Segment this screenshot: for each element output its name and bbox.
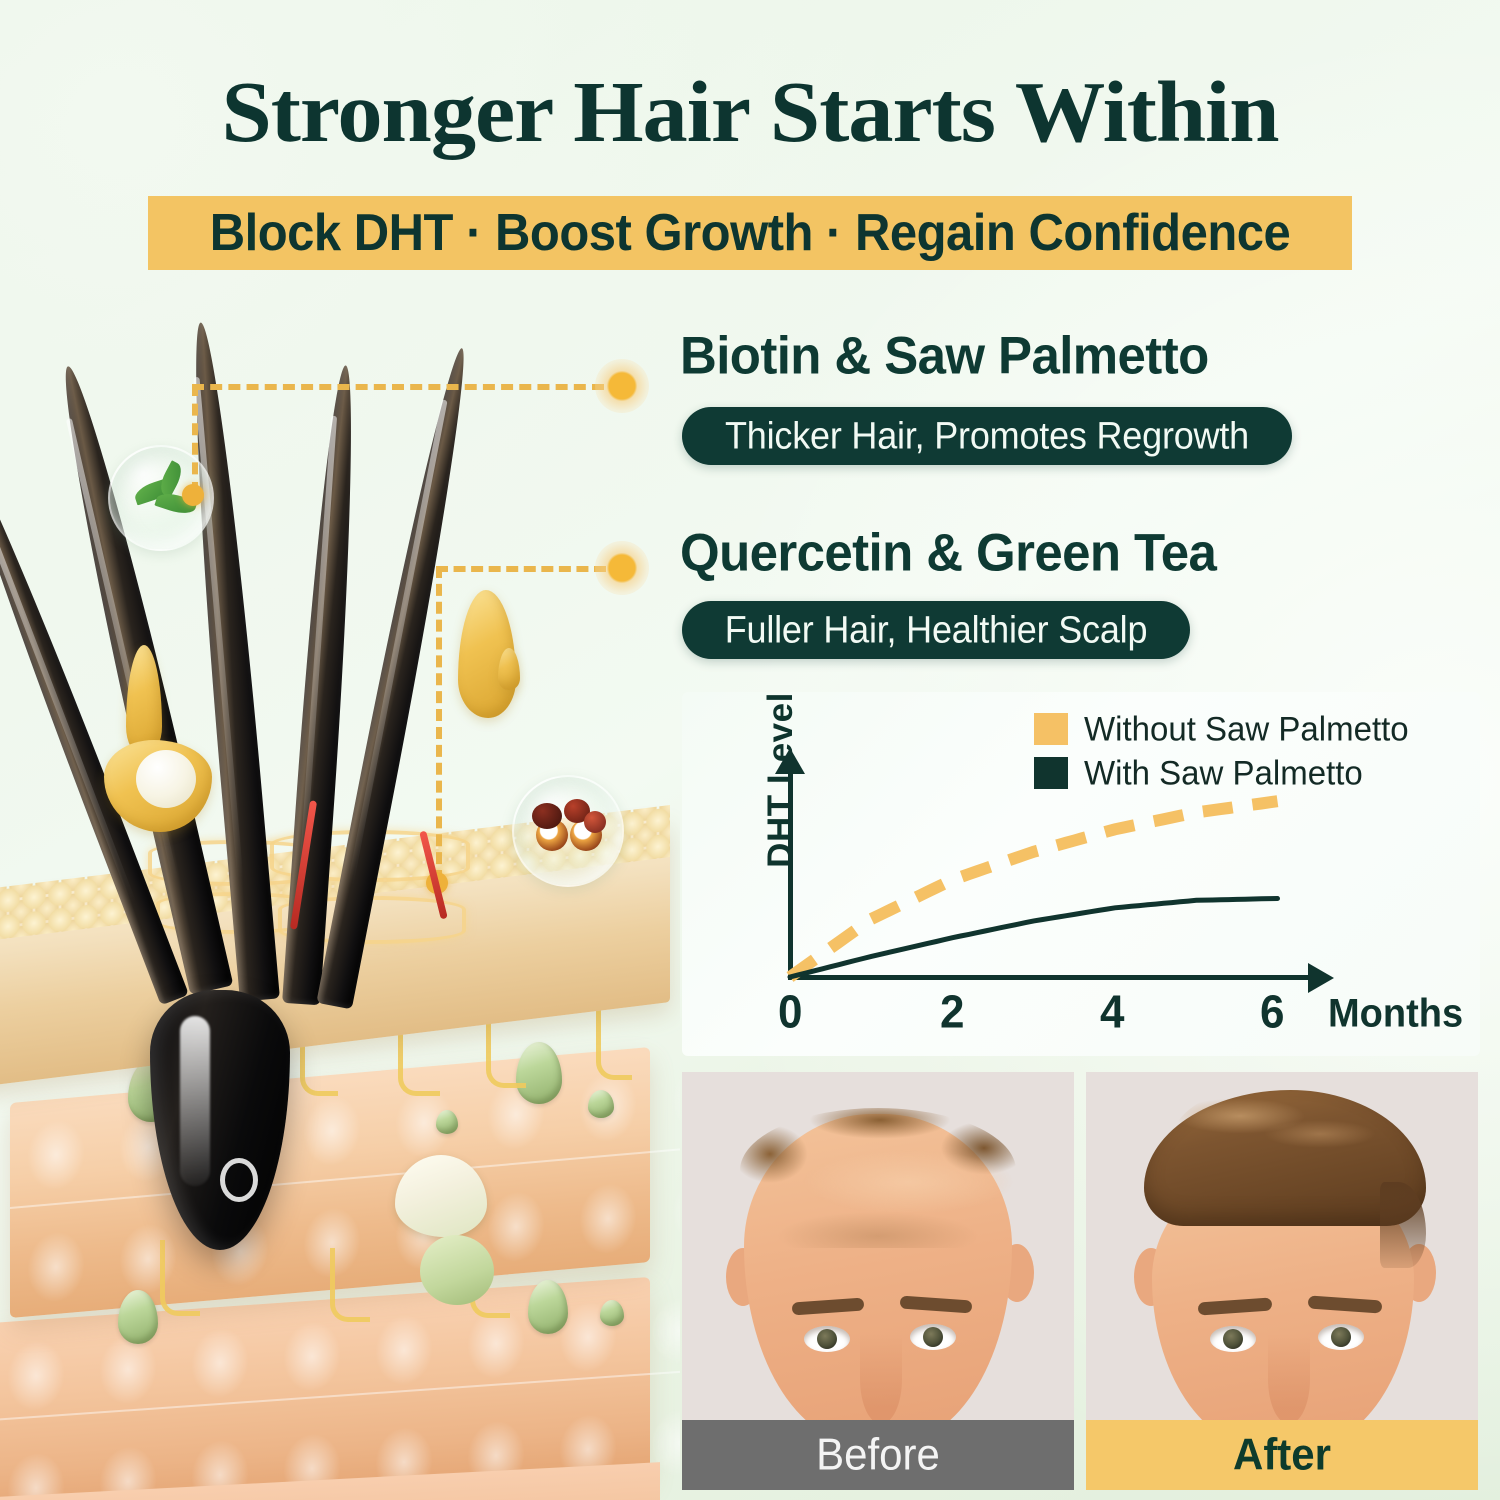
after-label-bar: After: [1086, 1420, 1478, 1490]
x-tick-0: 0: [778, 987, 802, 1040]
x-tick-6: 6: [1260, 987, 1284, 1040]
capillary-icon: [330, 1248, 370, 1322]
before-label-text: Before: [682, 1418, 1074, 1490]
after-label-text: After: [1086, 1418, 1478, 1490]
eye-icon: [1210, 1326, 1256, 1352]
before-label-bar: Before: [682, 1420, 1074, 1490]
eye-icon: [1318, 1324, 1364, 1350]
capillary-icon: [596, 1000, 632, 1080]
chart-x-axis-label: Months: [1328, 992, 1463, 1037]
series-line-without-saw-palmetto: [790, 801, 1278, 977]
after-photo: [1086, 1072, 1478, 1420]
pearl-highlight-icon: [136, 750, 196, 808]
oil-droplet-small-icon: [498, 648, 520, 690]
series-line-with-saw-palmetto: [790, 899, 1278, 978]
feature-title-biotin: Biotin & Saw Palmetto: [680, 325, 1209, 386]
feature-pill-biotin: Thicker Hair, Promotes Regrowth: [682, 407, 1292, 465]
dht-level-chart: Without Saw Palmetto With Saw Palmetto D…: [682, 692, 1480, 1056]
capillary-icon: [160, 1240, 200, 1316]
feature-title-quercetin: Quercetin & Green Tea: [680, 522, 1216, 583]
feature-pill-label: Fuller Hair, Healthier Scalp: [725, 608, 1148, 652]
x-tick-2: 2: [940, 987, 964, 1040]
scalp-cross-section-illustration: [0, 300, 680, 1500]
callout-dot-icon: [595, 359, 649, 413]
hair-quiff-icon: [1170, 1084, 1380, 1170]
eye-icon: [910, 1324, 956, 1350]
x-tick-4: 4: [1100, 987, 1124, 1040]
callout-dot-icon: [595, 541, 649, 595]
poster-canvas: Stronger Hair Starts Within Block DHT · …: [0, 0, 1500, 1500]
feature-pill-quercetin: Fuller Hair, Healthier Scalp: [682, 601, 1190, 659]
page-title: Stronger Hair Starts Within: [0, 68, 1500, 155]
feature-pill-label: Thicker Hair, Promotes Regrowth: [725, 414, 1249, 458]
hairline-shadow: [744, 1192, 1012, 1248]
eye-icon: [804, 1326, 850, 1352]
subtitle-text: Block DHT · Boost Growth · Regain Confid…: [148, 194, 1352, 272]
nutrient-pearl-icon: [600, 1300, 624, 1326]
nose-icon: [1268, 1334, 1310, 1420]
subtitle-banner: Block DHT · Boost Growth · Regain Confid…: [148, 196, 1352, 270]
berry-icon: [584, 811, 606, 833]
after-card: After: [1086, 1072, 1478, 1490]
dermal-papilla-base-icon: [420, 1235, 494, 1305]
before-photo: [682, 1072, 1074, 1420]
nose-icon: [860, 1334, 902, 1420]
nutrient-pearl-icon: [588, 1090, 614, 1118]
saw-palmetto-berry-bubble-icon: [512, 775, 624, 887]
berry-icon: [532, 803, 562, 829]
before-card: Before: [682, 1072, 1074, 1490]
